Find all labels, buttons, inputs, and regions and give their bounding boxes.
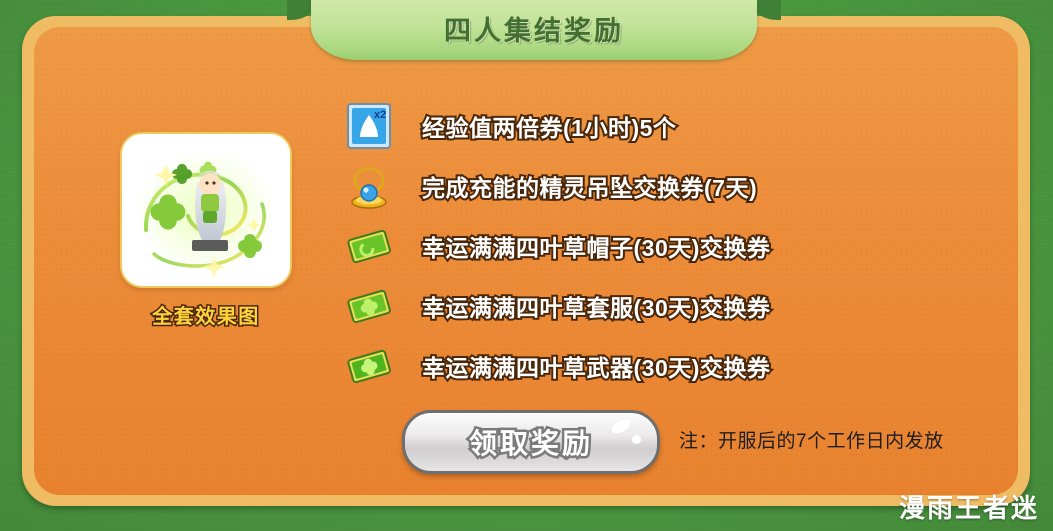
charged-spirit-pendant-icon <box>344 161 394 211</box>
reward-row: 幸运满满四叶草套服(30天)交换券 <box>344 276 864 336</box>
green-coupon-weapon-icon <box>344 341 394 391</box>
watermark: 漫雨王者迷 <box>899 488 1039 525</box>
reward-row: 完成充能的精灵吊坠交换券(7天) <box>344 156 864 216</box>
full-set-preview-image <box>122 134 290 286</box>
promotion-banner-stage: 四人集结奖励 <box>0 0 1053 531</box>
preview-block: 全套效果图 <box>110 132 302 329</box>
reward-list: x2 经验值两倍券(1小时)5个 完成充能的精灵吊坠交换券(7天) <box>344 96 864 396</box>
footnote-text: 注：开服后的7个工作日内发放 <box>679 426 944 453</box>
green-coupon-hat-icon <box>344 221 394 271</box>
green-coupon-outfit-icon <box>344 281 394 331</box>
reward-label: 幸运满满四叶草套服(30天)交换券 <box>422 289 770 323</box>
exp-2x-coupon-icon: x2 <box>344 101 394 151</box>
header-banner: 四人集结奖励 <box>311 0 757 62</box>
preview-card <box>120 132 292 288</box>
reward-label: 幸运满满四叶草帽子(30天)交换券 <box>422 229 770 263</box>
button-gloss-dot-icon <box>632 435 641 444</box>
reward-label: 经验值两倍券(1小时)5个 <box>422 109 676 143</box>
svg-text:x2: x2 <box>374 109 386 121</box>
claim-reward-button[interactable]: 领取奖励 <box>402 410 660 474</box>
preview-caption: 全套效果图 <box>110 300 302 329</box>
reward-row: x2 经验值两倍券(1小时)5个 <box>344 96 864 156</box>
reward-label: 幸运满满四叶草武器(30天)交换券 <box>422 349 770 383</box>
reward-row: 幸运满满四叶草帽子(30天)交换券 <box>344 216 864 276</box>
reward-row: 幸运满满四叶草武器(30天)交换券 <box>344 336 864 396</box>
reward-label: 完成充能的精灵吊坠交换券(7天) <box>422 169 757 203</box>
page-title: 四人集结奖励 <box>311 9 757 48</box>
